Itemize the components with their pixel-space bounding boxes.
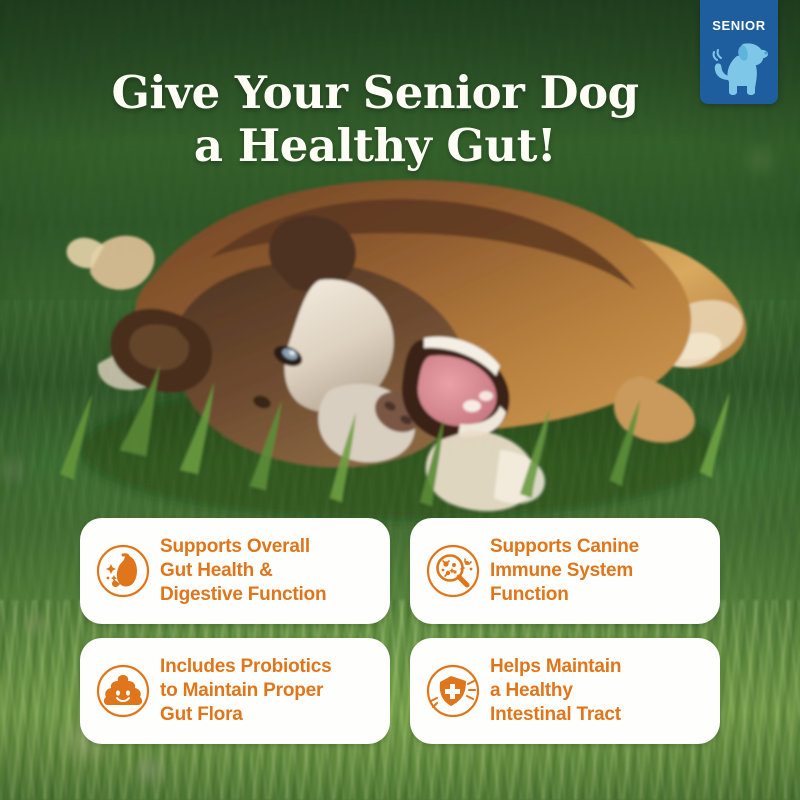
feature-line: Supports Canine <box>490 535 639 559</box>
feature-card-immune-system[interactable]: Supports Canine Immune System Function <box>410 518 720 624</box>
poop-emoji-icon <box>94 662 152 720</box>
senior-badge: SENIOR <box>700 0 778 104</box>
shield-plus-icon <box>424 662 482 720</box>
feature-line: Digestive Function <box>160 583 326 607</box>
headline-line-2: a Healthy Gut! <box>40 119 710 172</box>
feature-card-intestinal-tract[interactable]: Helps Maintain a Healthy Intestinal Trac… <box>410 638 720 744</box>
feature-line: Immune System <box>490 559 639 583</box>
feature-card-text: Supports Overall Gut Health & Digestive … <box>160 535 326 607</box>
senior-badge-label: SENIOR <box>700 18 778 33</box>
feature-card-text: Helps Maintain a Healthy Intestinal Trac… <box>490 655 621 727</box>
feature-card-gut-health[interactable]: Supports Overall Gut Health & Digestive … <box>80 518 390 624</box>
feature-line: Supports Overall <box>160 535 326 559</box>
feature-line: Gut Health & <box>160 559 326 583</box>
feature-line: a Healthy <box>490 679 621 703</box>
feature-card-text: Includes Probiotics to Maintain Proper G… <box>160 655 331 727</box>
feature-line: Helps Maintain <box>490 655 621 679</box>
stomach-icon <box>94 542 152 600</box>
feature-line: Intestinal Tract <box>490 703 621 727</box>
product-marketing-poster: Give Your Senior Dog a Healthy Gut! SENI… <box>0 0 800 800</box>
page-title: Give Your Senior Dog a Healthy Gut! <box>0 66 800 172</box>
feature-line: to Maintain Proper <box>160 679 331 703</box>
dog-photo <box>0 150 800 530</box>
feature-line: Gut Flora <box>160 703 331 727</box>
feature-card-text: Supports Canine Immune System Function <box>490 535 639 607</box>
feature-card-grid: Supports Overall Gut Health & Digestive … <box>80 518 720 744</box>
feature-line: Function <box>490 583 639 607</box>
feature-card-probiotics[interactable]: Includes Probiotics to Maintain Proper G… <box>80 638 390 744</box>
headline-line-1: Give Your Senior Dog <box>111 66 638 119</box>
feature-line: Includes Probiotics <box>160 655 331 679</box>
sitting-dog-icon <box>709 36 769 98</box>
magnifier-germs-icon <box>424 542 482 600</box>
